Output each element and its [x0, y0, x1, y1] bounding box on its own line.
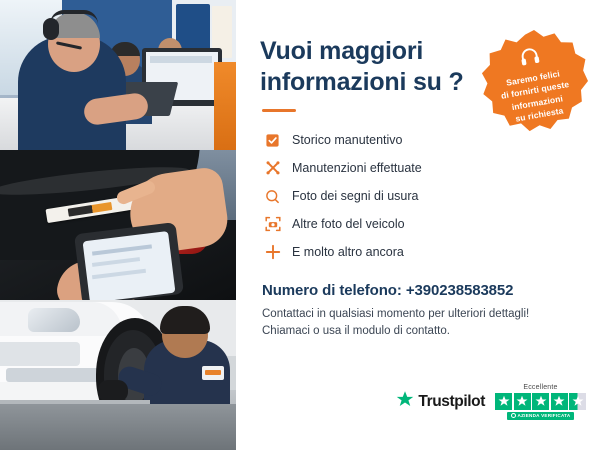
trustpilot-star-filled: [514, 393, 531, 410]
car-headlight: [28, 308, 80, 332]
car-grille-lower: [6, 368, 102, 382]
trustpilot-star-filled: [551, 393, 568, 410]
list-item: Altre foto del veicolo: [264, 210, 578, 238]
trustpilot-star-half: [569, 393, 586, 410]
trustpilot-star-filled: [495, 393, 512, 410]
plus-icon: [264, 244, 281, 261]
photo-vehicle-inspection-sticker-and-tablet: [0, 150, 236, 300]
garage-floor: [0, 404, 236, 450]
phone-number-line: Numero di telefono: +390238583852: [262, 282, 578, 299]
list-item-label: Storico manutentivo: [292, 133, 402, 147]
contact-line-2: Chiamaci o usa il modulo di contatto.: [262, 323, 578, 340]
trustpilot-star-filled: [532, 393, 549, 410]
clipboard-check-icon: [264, 132, 281, 149]
trustpilot-brand: Trustpilot: [396, 390, 485, 413]
mechanic-uniform-badge-logo: [205, 370, 221, 375]
title-underline-rule: [262, 109, 296, 112]
tools-cross-icon: [264, 160, 281, 177]
photo-call-center-advisor-with-headset: [0, 0, 236, 150]
contact-line-1: Contattaci in qualsiasi momento per ulte…: [262, 306, 578, 323]
headline-line-2: informazioni su ?: [260, 68, 464, 96]
verified-company-badge: AZIENDA VERIFICATA: [507, 412, 575, 420]
list-item-label: Altre foto del veicolo: [292, 217, 405, 231]
phone-number[interactable]: +390238583852: [406, 282, 514, 299]
callout-badge: Saremo felici di fornirti queste informa…: [480, 30, 588, 138]
magnifier-icon: [264, 188, 281, 205]
trustpilot-widget[interactable]: Trustpilot Eccellente: [396, 384, 586, 420]
mechanic-glove: [98, 380, 128, 402]
list-item-label: Foto dei segni di usura: [292, 189, 418, 203]
list-item: Foto dei segni di usura: [264, 182, 578, 210]
phone-label: Numero di telefono:: [262, 282, 402, 299]
trustpilot-star-row: [495, 393, 586, 410]
page-title: Vuoi maggiori informazioni su ?: [260, 36, 475, 97]
badge-text: Saremo felici di fornirti queste informa…: [490, 65, 583, 128]
trustpilot-star-icon: [396, 390, 414, 413]
camera-scan-icon: [264, 216, 281, 233]
monitor-screen-toolbar: [150, 56, 212, 63]
orange-shelving: [214, 62, 236, 150]
headset-icon: [517, 46, 542, 72]
content-panel: Vuoi maggiori informazioni su ? Saremo f…: [236, 0, 600, 450]
photo-column: [0, 0, 236, 450]
trustpilot-rating: Eccellente: [495, 384, 586, 420]
verified-company-label: AZIENDA VERIFICATA: [518, 413, 571, 418]
list-item-label: E molto altro ancora: [292, 245, 404, 259]
wall-poster: [176, 4, 210, 50]
list-item-label: Manutenzioni effettuate: [292, 161, 422, 175]
promo-banner: Vuoi maggiori informazioni su ? Saremo f…: [0, 0, 600, 450]
verified-check-icon: [511, 413, 516, 418]
feature-list: Storico manutentivo Manutenzioni effettu…: [264, 126, 578, 266]
headline-line-1: Vuoi maggiori: [260, 37, 423, 65]
car-grille-upper: [0, 342, 80, 366]
badge-content: Saremo felici di fornirti queste informa…: [471, 21, 596, 146]
trustpilot-rating-label: Eccellente: [523, 384, 557, 391]
advisor-headset-earpiece: [43, 18, 59, 40]
photo-mechanic-checking-wheel-on-lift: [0, 300, 236, 450]
contact-instructions: Contattaci in qualsiasi momento per ulte…: [262, 306, 578, 341]
trustpilot-wordmark: Trustpilot: [418, 393, 485, 411]
list-item: E molto altro ancora: [264, 238, 578, 266]
list-item: Manutenzioni effettuate: [264, 154, 578, 182]
